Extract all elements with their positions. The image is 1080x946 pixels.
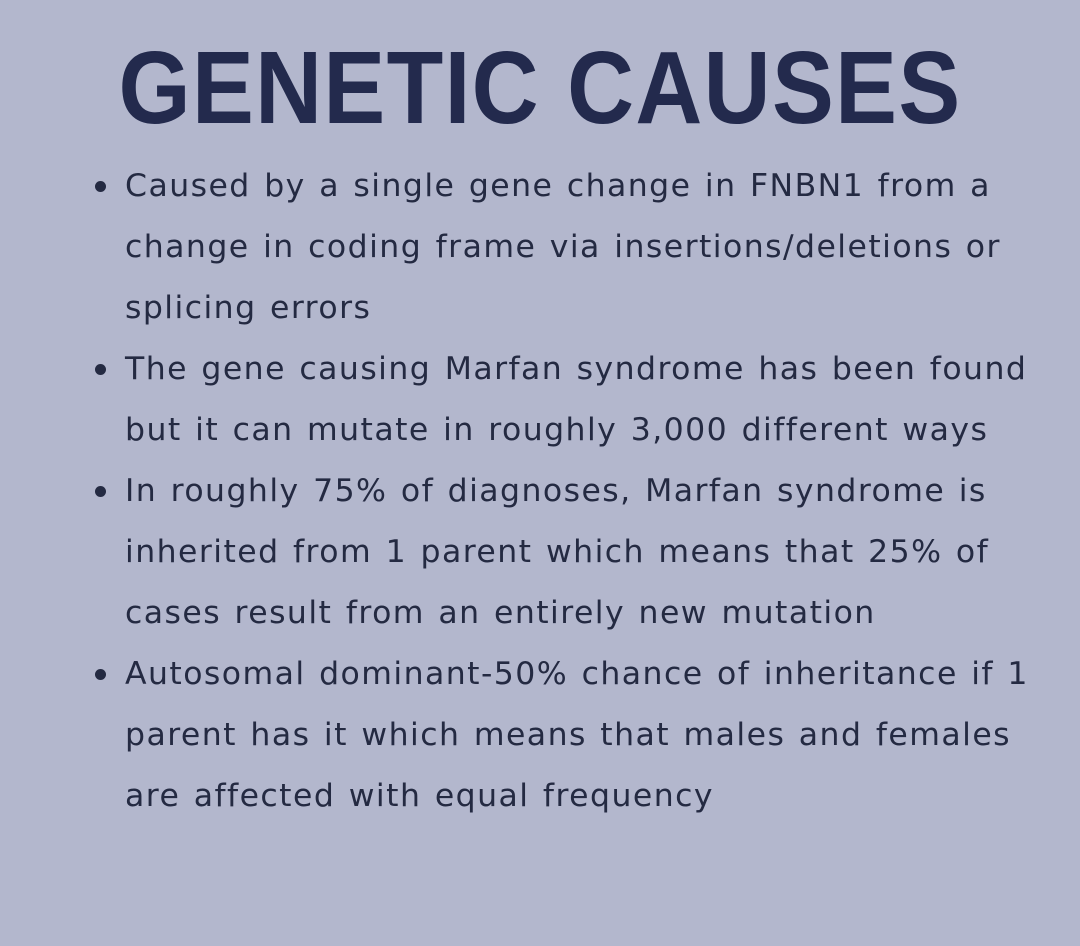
- page-title: GENETIC CAUSES: [54, 34, 1026, 141]
- list-item-text: Caused by a single gene change in FNBN1 …: [125, 156, 1040, 339]
- list-item: The gene causing Marfan syndrome has bee…: [88, 339, 1040, 461]
- list-item-text: Autosomal dominant-50% chance of inherit…: [125, 644, 1040, 827]
- list-item-text: The gene causing Marfan syndrome has bee…: [125, 339, 1040, 461]
- bullet-point-icon: [95, 669, 106, 680]
- list-item-text: In roughly 75% of diagnoses, Marfan synd…: [125, 461, 1040, 644]
- list-item: In roughly 75% of diagnoses, Marfan synd…: [88, 461, 1040, 644]
- bullet-point-icon: [95, 364, 106, 375]
- genetic-causes-bullet-list: Caused by a single gene change in FNBN1 …: [88, 156, 1040, 827]
- bullet-point-icon: [95, 486, 106, 497]
- genetic-causes-poster: GENETIC CAUSES Caused by a single gene c…: [0, 0, 1080, 946]
- list-item: Caused by a single gene change in FNBN1 …: [88, 156, 1040, 339]
- list-item: Autosomal dominant-50% chance of inherit…: [88, 644, 1040, 827]
- bullet-point-icon: [95, 181, 106, 192]
